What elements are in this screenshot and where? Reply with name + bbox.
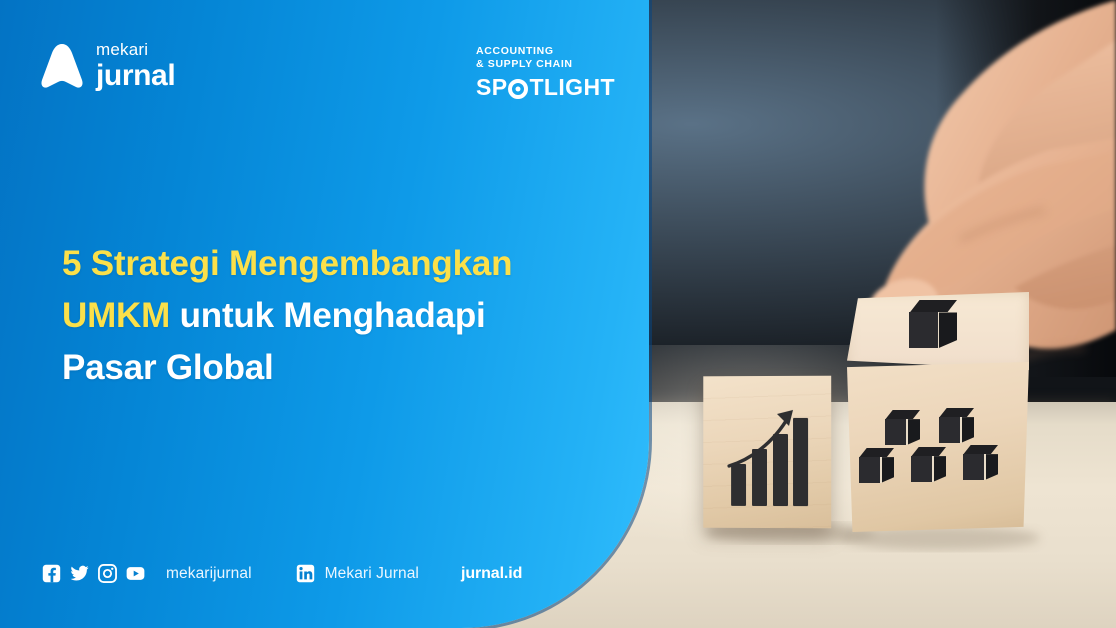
mekari-jurnal-logo[interactable]: mekari jurnal — [40, 41, 175, 91]
headline-highlight-umkm: UMKM — [62, 296, 170, 335]
footer-bar: mekarijurnal Mekari Jurnal jurnal.id — [42, 564, 522, 583]
social-icon-group: mekarijurnal — [42, 564, 252, 583]
wooden-block-growth-chart — [703, 376, 831, 529]
headline-line-1: 5 Strategi Mengembangkan — [62, 238, 602, 290]
linkedin-group[interactable]: Mekari Jurnal — [296, 564, 419, 583]
page-title: 5 Strategi Mengembangkan UMKM untuk Meng… — [62, 238, 602, 393]
twitter-icon[interactable] — [70, 564, 89, 583]
block-top-face — [847, 292, 1029, 370]
spotlight-lens-o-icon — [508, 79, 528, 99]
headline-line-2: UMKM untuk Menghadapi — [62, 290, 602, 342]
wooden-block-cubes — [847, 292, 1029, 532]
website-link[interactable]: jurnal.id — [461, 565, 522, 583]
instagram-icon[interactable] — [98, 564, 117, 583]
headline-line-2-rest: untuk Menghadapi — [170, 296, 485, 335]
spotlight-line-1: ACCOUNTING — [476, 45, 615, 58]
spotlight-line-2: & SUPPLY CHAIN — [476, 58, 615, 71]
mekari-arrow-logo-icon — [40, 42, 84, 90]
block-front-face — [847, 362, 1029, 532]
blue-content-panel: mekari jurnal ACCOUNTING & SUPPLY CHAIN … — [0, 0, 649, 628]
spotlight-word-prefix: SP — [476, 74, 507, 101]
headline-line-3: Pasar Global — [62, 342, 602, 394]
spotlight-lockup: ACCOUNTING & SUPPLY CHAIN SP TLIGHT — [476, 45, 615, 101]
facebook-icon[interactable] — [42, 564, 61, 583]
social-handle: mekarijurnal — [166, 565, 252, 583]
spotlight-wordmark: SP TLIGHT — [476, 74, 615, 101]
linkedin-icon[interactable] — [296, 564, 315, 583]
logo-text-mekari: mekari — [96, 41, 175, 58]
banner-canvas: mekari jurnal ACCOUNTING & SUPPLY CHAIN … — [0, 0, 1116, 628]
spotlight-word-suffix: TLIGHT — [529, 74, 614, 101]
single-cube-icon — [909, 300, 957, 348]
growth-bar-chart-icon — [727, 404, 813, 506]
logo-text-jurnal: jurnal — [96, 61, 175, 91]
linkedin-label: Mekari Jurnal — [325, 565, 419, 583]
youtube-icon[interactable] — [126, 564, 145, 583]
